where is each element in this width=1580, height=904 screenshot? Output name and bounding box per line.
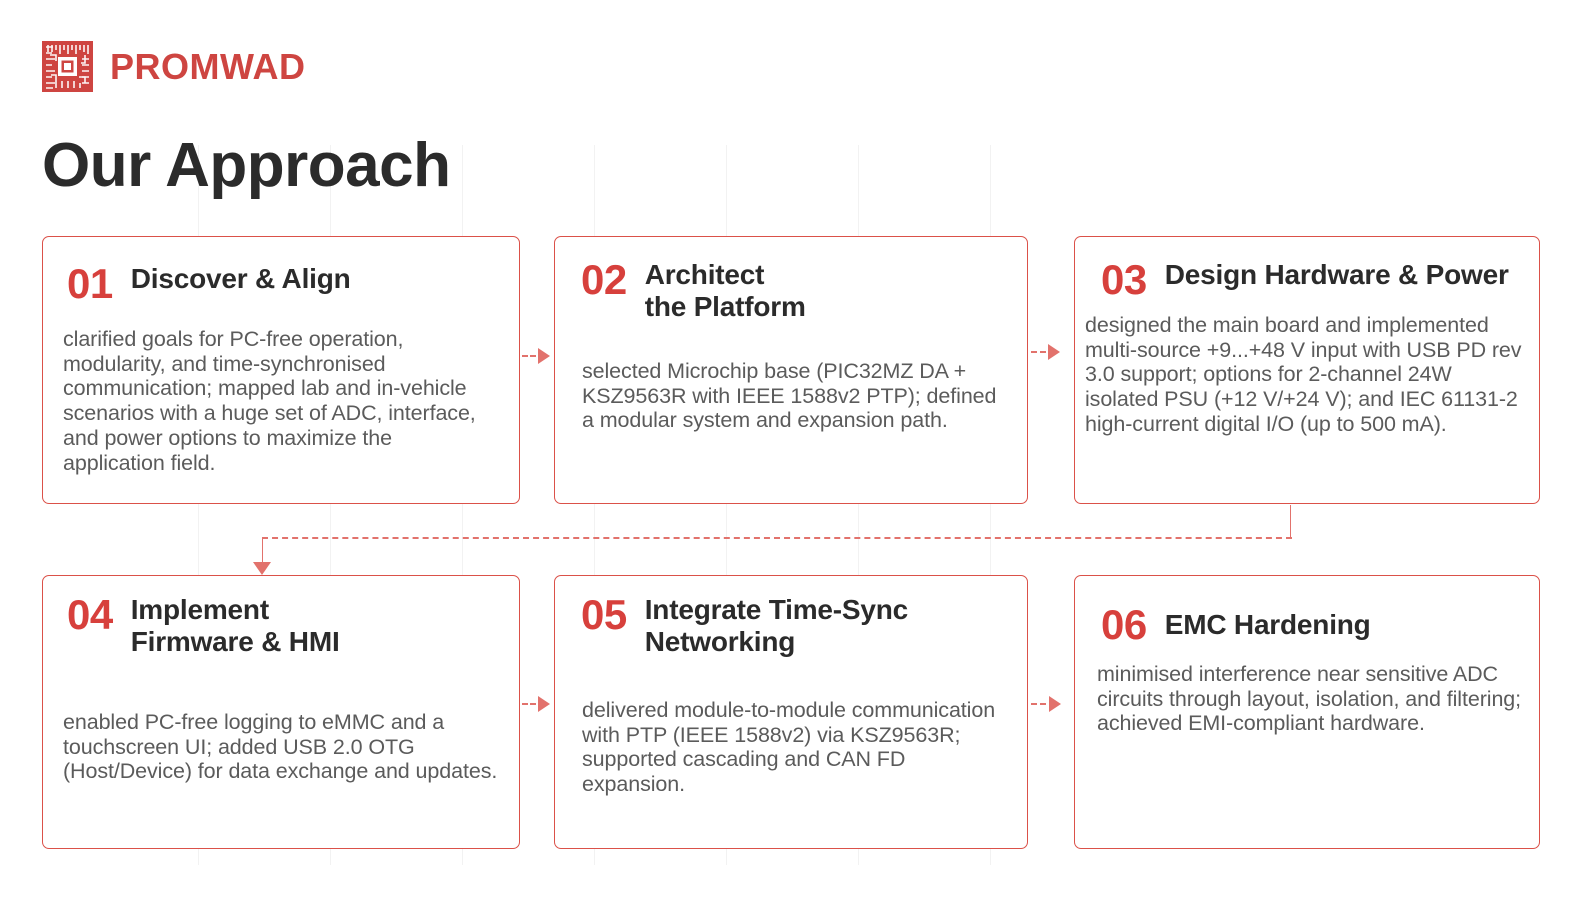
step-card-01-header: 01 Discover & Align [43,237,519,305]
step-card-06-body: minimised interference near sensitive AD… [1075,646,1539,736]
step-card-03-header: 03 Design Hardware & Power [1075,237,1539,301]
step-card-02[interactable]: 02 Architectthe Platform selected Microc… [554,236,1028,504]
step-card-03-number: 03 [1101,259,1147,301]
step-card-02-body: selected Microchip base (PIC32MZ DA + KS… [555,323,1027,433]
step-card-06-header: 06 EMC Hardening [1075,576,1539,646]
step-card-06-title: EMC Hardening [1165,609,1371,641]
step-card-04-title: ImplementFirmware & HMI [131,594,340,658]
step-card-02-number: 02 [581,259,627,301]
step-card-05-number: 05 [581,594,627,636]
connector-03-to-04-arrow-icon [253,562,271,575]
connector-03-to-04-line [262,537,1292,539]
step-card-04-number: 04 [67,594,113,636]
step-card-02-header: 02 Architectthe Platform [555,237,1027,323]
page-title: Our Approach [42,133,451,198]
step-card-05-title: Integrate Time-Sync Networking [645,594,1027,658]
connector-03-to-04-descent [262,538,263,564]
step-card-04-header: 04 ImplementFirmware & HMI [43,576,519,658]
step-card-06-number: 06 [1101,604,1147,646]
brand-logo: PROMWAD [42,41,306,92]
connector-05-to-06-arrow-icon [1049,696,1061,712]
step-card-03-body: designed the main board and implemented … [1075,301,1539,437]
step-card-02-title: Architectthe Platform [645,259,806,323]
step-card-05[interactable]: 05 Integrate Time-Sync Networking delive… [554,575,1028,849]
step-card-01-title: Discover & Align [131,263,351,295]
step-card-03-title: Design Hardware & Power [1165,259,1509,291]
connector-01-to-02-arrow-icon [538,348,550,364]
promwad-circuit-chip-logo-icon [42,41,93,92]
connector-02-to-03-arrow-icon [1048,344,1060,360]
step-card-01-number: 01 [67,263,113,305]
step-card-01-body: clarified goals for PC-free operation, m… [43,305,519,475]
step-card-05-body: delivered module-to-module communication… [555,658,1027,797]
step-card-04[interactable]: 04 ImplementFirmware & HMI enabled PC-fr… [42,575,520,849]
step-card-04-body: enabled PC-free logging to eMMC and a to… [43,658,519,784]
connector-04-to-05-arrow-icon [538,696,550,712]
step-card-03[interactable]: 03 Design Hardware & Power designed the … [1074,236,1540,504]
slide-canvas: PROMWAD Our Approach 01 Discover & Align… [0,0,1580,904]
connector-03-to-04-drop [1290,505,1291,539]
brand-name: PROMWAD [110,49,306,85]
step-card-06[interactable]: 06 EMC Hardening minimised interference … [1074,575,1540,849]
step-card-05-header: 05 Integrate Time-Sync Networking [555,576,1027,658]
step-card-01[interactable]: 01 Discover & Align clarified goals for … [42,236,520,504]
